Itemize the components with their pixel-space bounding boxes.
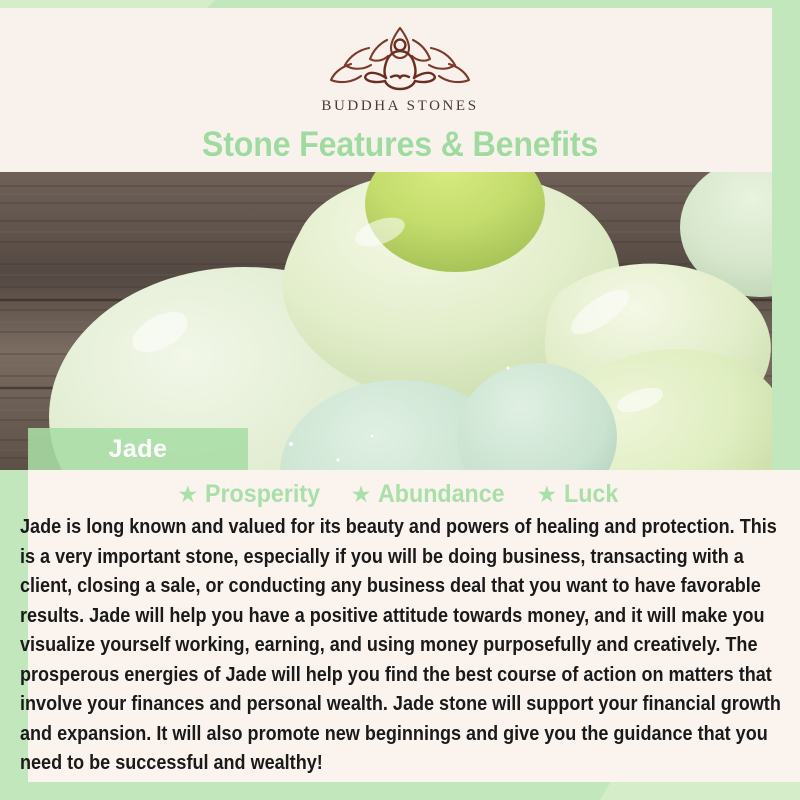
page-title: Stone Features & Benefits bbox=[32, 125, 768, 165]
benefit-item: ★ Prosperity bbox=[177, 480, 328, 509]
star-icon: ★ bbox=[351, 483, 372, 506]
stone-photo bbox=[0, 172, 772, 470]
benefit-item: ★ Abundance bbox=[351, 480, 515, 509]
brand-name: BUDDHA STONES bbox=[321, 98, 478, 115]
star-icon: ★ bbox=[177, 483, 198, 506]
stone-description: Jade is long known and valued for its be… bbox=[20, 512, 782, 778]
benefit-item: ★ Luck bbox=[537, 480, 623, 509]
stone-photo-illustration bbox=[0, 172, 772, 470]
benefit-label: Prosperity bbox=[205, 480, 320, 509]
lotus-meditation-icon bbox=[325, 20, 475, 92]
stone-name: Jade bbox=[109, 435, 168, 464]
star-icon: ★ bbox=[537, 483, 558, 506]
benefit-label: Abundance bbox=[378, 480, 505, 509]
brand-logo-block: BUDDHA STONES bbox=[0, 20, 800, 115]
benefits-row: ★ Prosperity ★ Abundance ★ Luck bbox=[28, 478, 772, 510]
benefit-label: Luck bbox=[564, 480, 618, 509]
stone-label-band: Jade bbox=[28, 428, 248, 470]
